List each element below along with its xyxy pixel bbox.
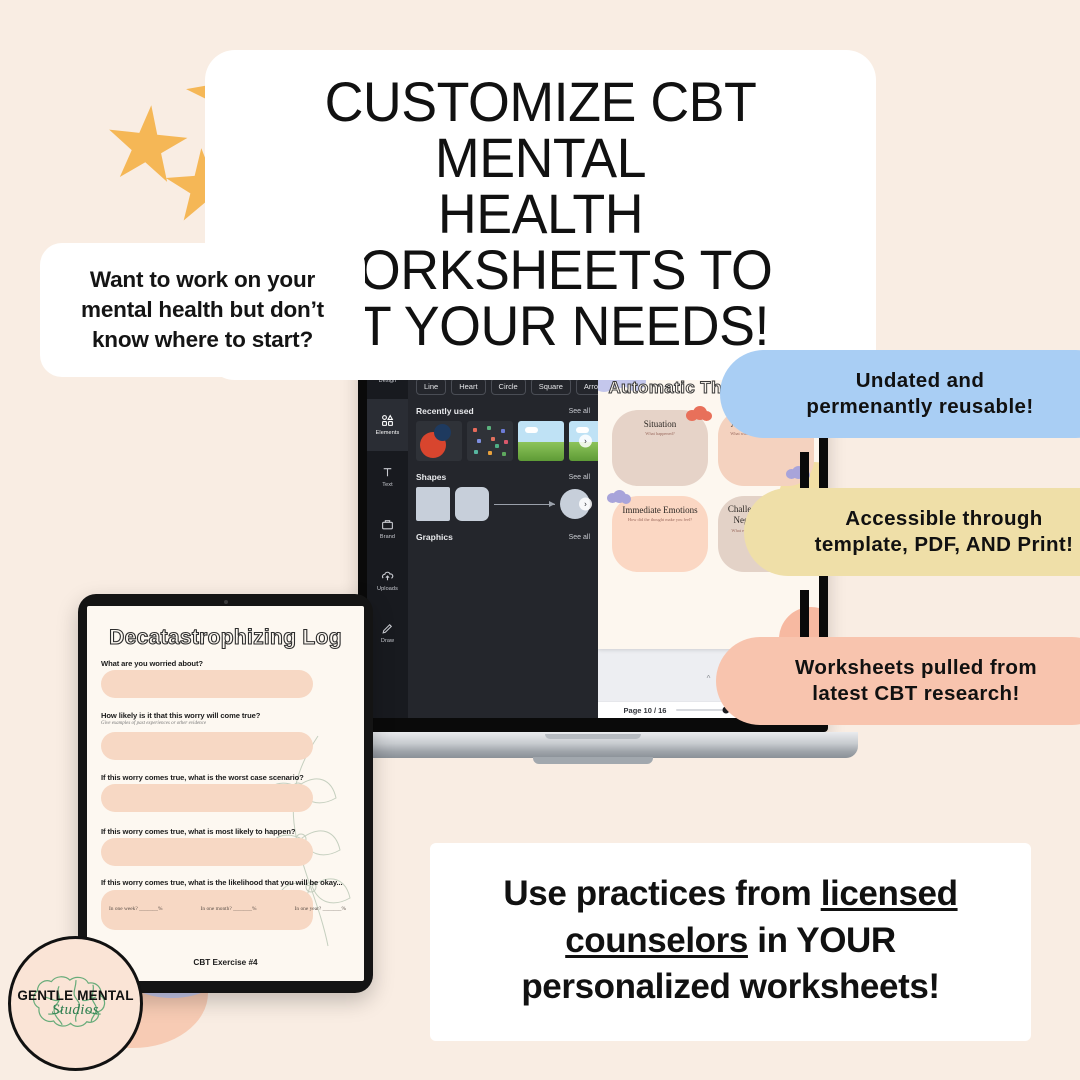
- bottom-text-part2: in YOUR: [748, 921, 896, 960]
- shape-rounded-square[interactable]: [455, 487, 489, 521]
- elements-panel: Search elements Line Heart Circle Square…: [408, 343, 598, 718]
- section-shapes: Shapes See all: [416, 472, 590, 482]
- feature-3-line-2: latest CBT research!: [812, 682, 1019, 705]
- tablet-question-1: What are you worried about?: [101, 659, 203, 668]
- feature-1-line-1: Undated and: [856, 369, 985, 392]
- shape-arrow[interactable]: [494, 504, 555, 505]
- bottom-message-card: Use practices from licensed counselors i…: [430, 843, 1031, 1041]
- section-recently-used: Recently used See all: [416, 406, 590, 416]
- sidebar-label-brand: Brand: [380, 534, 395, 540]
- tablet-mockup: Decatastrophizing Log What are you worri…: [78, 594, 373, 993]
- feature-pill-research: Worksheets pulled from latest CBT resear…: [716, 637, 1080, 725]
- tablet-worksheet-title: Decatastrophizing Log: [87, 626, 364, 650]
- section-title: Shapes: [416, 472, 446, 482]
- feature-3-line-1: Worksheets pulled from: [795, 656, 1037, 679]
- tablet-question-4: If this worry comes true, what is most l…: [101, 827, 295, 836]
- percent-year: In one year? _______%: [295, 906, 346, 912]
- intro-line-1: Want to work on your: [90, 267, 315, 292]
- card-heading: Immediate Emotions: [612, 505, 708, 515]
- collapse-caret-icon[interactable]: ^: [707, 674, 711, 683]
- chip-heart[interactable]: Heart: [451, 378, 485, 395]
- card-subtext: What happened?: [616, 431, 704, 436]
- section-graphics: Graphics See all: [416, 532, 590, 542]
- filter-chip-row: Line Heart Circle Square Arro: [416, 378, 590, 395]
- section-title: Graphics: [416, 532, 453, 542]
- headline-line-1: CUSTOMIZE CBT MENTAL: [325, 70, 757, 189]
- chip-arrow[interactable]: Arro: [576, 378, 598, 395]
- feature-2-line-2: template, PDF, AND Print!: [815, 533, 1074, 556]
- thumbnail-landscape[interactable]: [518, 421, 564, 461]
- chip-line[interactable]: Line: [416, 378, 446, 395]
- page-indicator: Page 10 / 16: [624, 706, 667, 715]
- tablet-answer-field-1[interactable]: [101, 670, 313, 698]
- bottom-text-part1: Use practices from: [503, 874, 820, 913]
- chevron-right-icon[interactable]: ›: [579, 435, 592, 448]
- bottom-emphasis-1: licensed: [821, 874, 958, 913]
- worksheet-card-situation[interactable]: Situation What happened?: [612, 410, 708, 486]
- tablet-answer-field-4[interactable]: [101, 838, 313, 866]
- intro-line-2: mental health but don’t: [81, 297, 324, 322]
- recently-used-row: ›: [416, 421, 590, 461]
- sidebar-item-text[interactable]: Text: [367, 451, 408, 503]
- percent-week: In one week? _______%: [109, 906, 162, 912]
- thumbnail-confetti[interactable]: [467, 421, 513, 461]
- sidebar-label-text: Text: [382, 482, 393, 488]
- cloud-accent: [686, 406, 712, 424]
- sidebar-item-draw[interactable]: Draw: [367, 607, 408, 659]
- laptop-base-notch: [533, 757, 653, 764]
- sidebar-item-elements[interactable]: Elements: [367, 399, 408, 451]
- tablet-question-2: How likely is it that this worry will co…: [101, 711, 260, 720]
- tablet-answer-field-3[interactable]: [101, 784, 313, 812]
- chip-square[interactable]: Square: [531, 378, 571, 395]
- logo-line-2: Studios: [17, 1002, 133, 1019]
- feature-pill-undated: Undated and permenantly reusable!: [720, 350, 1080, 438]
- see-all-link[interactable]: See all: [569, 408, 590, 415]
- sidebar-item-uploads[interactable]: Uploads: [367, 555, 408, 607]
- feature-1-line-2: permenantly reusable!: [806, 395, 1033, 418]
- tablet-camera: [224, 600, 228, 604]
- sidebar-label-elements: Elements: [376, 430, 400, 436]
- poster-canvas: CUSTOMIZE CBT MENTAL HEALTH WORKSHEETS T…: [0, 0, 1080, 1080]
- tablet-question-2-sub: Give examples of past experiences or oth…: [101, 721, 206, 726]
- tablet-frame: Decatastrophizing Log What are you worri…: [78, 594, 373, 993]
- worksheet-card-immediate-emotions[interactable]: Immediate Emotions How did the thought m…: [612, 496, 708, 572]
- intro-bubble: Want to work on your mental health but d…: [40, 243, 365, 377]
- sidebar-label-draw: Draw: [381, 638, 394, 644]
- sidebar-label-uploads: Uploads: [377, 586, 398, 592]
- confetti-dots: [471, 425, 509, 457]
- percent-month: In one month? _______%: [201, 906, 257, 912]
- card-subtext: How did the thought make you feel?: [616, 517, 704, 522]
- tablet-answer-field-2[interactable]: [101, 732, 313, 760]
- see-all-link[interactable]: See all: [569, 534, 590, 541]
- sidebar-rail: Design Elements Text Brand: [367, 343, 408, 718]
- chip-circle[interactable]: Circle: [491, 378, 526, 395]
- bottom-emphasis-2: counselors: [565, 921, 748, 960]
- chevron-right-icon[interactable]: ›: [579, 498, 592, 511]
- tablet-percent-row: In one week? _______% In one month? ____…: [109, 906, 346, 912]
- tablet-screen: Decatastrophizing Log What are you worri…: [87, 606, 364, 981]
- shapes-row: ›: [416, 487, 590, 521]
- feature-2-line-1: Accessible through: [845, 507, 1042, 530]
- tablet-question-5: If this worry comes true, what is the li…: [101, 878, 343, 887]
- see-all-link[interactable]: See all: [569, 474, 590, 481]
- bottom-text-part3: personalized worksheets!: [521, 967, 939, 1006]
- tablet-question-3: If this worry comes true, what is the wo…: [101, 773, 304, 782]
- intro-line-3: know where to start?: [92, 327, 313, 352]
- feature-pill-accessible: Accessible through template, PDF, AND Pr…: [744, 488, 1080, 576]
- shape-square[interactable]: [416, 487, 450, 521]
- brand-logo-badge: GENTLE MENTAL Studios: [8, 936, 143, 1071]
- section-title: Recently used: [416, 406, 474, 416]
- logo-text: GENTLE MENTAL Studios: [17, 988, 133, 1019]
- laptop-base: [328, 732, 858, 758]
- thumbnail-shapes[interactable]: [416, 421, 462, 461]
- logo-line-1: GENTLE MENTAL: [17, 988, 133, 1003]
- sidebar-item-brand[interactable]: Brand: [367, 503, 408, 555]
- cloud-accent: [607, 490, 631, 506]
